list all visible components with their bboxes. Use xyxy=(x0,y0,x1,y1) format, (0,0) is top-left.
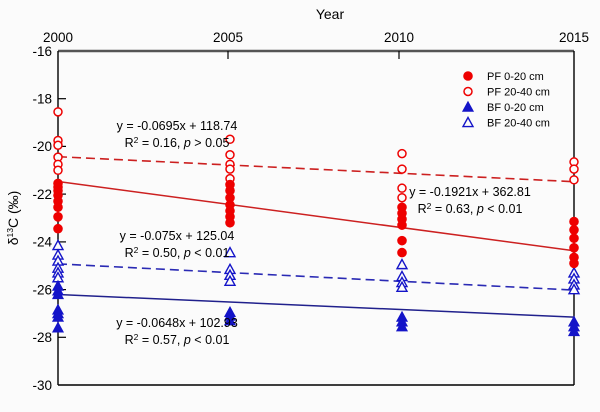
ytick-label-18: -18 xyxy=(32,92,52,107)
data-point xyxy=(570,176,578,184)
data-point xyxy=(398,165,406,173)
data-point xyxy=(54,224,63,233)
xtick-label-2005: 2005 xyxy=(213,30,243,45)
legend-marker-1 xyxy=(464,88,472,96)
data-point xyxy=(570,259,579,268)
data-point xyxy=(226,165,234,173)
svg-text:R2 = 0.16, p > 0.05: R2 = 0.16, p > 0.05 xyxy=(125,135,230,150)
eq2-val: = 0.63, xyxy=(431,202,477,216)
svg-text:y = -0.075x + 125.04: y = -0.075x + 125.04 xyxy=(120,229,235,243)
svg-text:R2 = 0.57, p < 0.01: R2 = 0.57, p < 0.01 xyxy=(125,332,230,347)
eq3-ptail: < 0.01 xyxy=(191,246,230,260)
legend-label-1: PF 20-40 cm xyxy=(487,87,550,99)
svg-text:R2 = 0.50, p < 0.01: R2 = 0.50, p < 0.01 xyxy=(125,245,230,260)
eq4-p: p xyxy=(183,333,191,347)
y-title-delta: δ xyxy=(5,237,21,245)
data-point xyxy=(398,248,407,257)
data-point xyxy=(398,150,406,158)
svg-text:R2 = 0.63, p < 0.01: R2 = 0.63, p < 0.01 xyxy=(418,201,523,216)
legend-label-3: BF 20-40 cm xyxy=(487,118,550,130)
eq3-r: R xyxy=(125,246,134,260)
y-title-c: C (‰) xyxy=(5,191,21,228)
data-point xyxy=(54,203,63,212)
svg-text:y = -0.0695x + 118.74: y = -0.0695x + 118.74 xyxy=(117,119,238,133)
x-axis-title: Year xyxy=(316,6,345,22)
data-point xyxy=(570,244,579,253)
ytick-label-16: -16 xyxy=(32,44,52,59)
ytick-label-28: -28 xyxy=(32,330,52,345)
ytick-label-22: -22 xyxy=(32,187,52,202)
data-point xyxy=(54,213,63,222)
eq4-val: = 0.57, xyxy=(138,333,184,347)
eq3-val: = 0.50, xyxy=(138,246,184,260)
xtick-label-2000: 2000 xyxy=(43,30,73,45)
ytick-label-20: -20 xyxy=(32,139,52,154)
ytick-label-24: -24 xyxy=(32,235,52,250)
legend-label-2: BF 0-20 cm xyxy=(487,102,544,114)
legend-label-0: PF 0-20 cm xyxy=(487,71,544,83)
eq4-r: R xyxy=(125,333,134,347)
chart-figure: 2000 2005 2010 2015 -16 -18 -20 -22 -24 … xyxy=(0,0,600,412)
eq4-line1: y = -0.0648x + 102.93 xyxy=(116,316,238,330)
eq4-ptail: < 0.01 xyxy=(191,333,230,347)
xtick-label-2015: 2015 xyxy=(559,30,589,45)
eq2-ptail: < 0.01 xyxy=(484,202,523,216)
data-point xyxy=(398,236,407,245)
eq1-ptail: > 0.05 xyxy=(191,136,230,150)
data-point xyxy=(226,218,235,227)
eq2-line1: y = -0.1921x + 362.81 xyxy=(409,185,531,199)
eq3-p: p xyxy=(183,246,191,260)
eq1-val: = 0.16, xyxy=(138,136,184,150)
svg-text:y = -0.1921x + 362.81: y = -0.1921x + 362.81 xyxy=(409,185,531,199)
ytick-label-30: -30 xyxy=(32,378,52,393)
data-point xyxy=(570,217,579,226)
ytick-label-26: -26 xyxy=(32,282,52,297)
scatter-plot-svg: 2000 2005 2010 2015 -16 -18 -20 -22 -24 … xyxy=(0,0,600,412)
data-point xyxy=(570,165,578,173)
eq1-r: R xyxy=(125,136,134,150)
eq2-r: R xyxy=(418,202,427,216)
eq2-p: p xyxy=(476,202,484,216)
data-point xyxy=(398,221,407,230)
data-point xyxy=(54,166,62,174)
data-point xyxy=(570,226,579,235)
eq3-line1: y = -0.075x + 125.04 xyxy=(120,229,235,243)
data-point xyxy=(54,141,62,149)
data-point xyxy=(398,194,406,202)
eq1-line1: y = -0.0695x + 118.74 xyxy=(117,119,238,133)
data-point xyxy=(226,151,234,159)
eq1-p: p xyxy=(183,136,191,150)
data-point xyxy=(570,234,579,243)
y-title-superscript: 13 xyxy=(5,228,15,238)
svg-text:y = -0.0648x + 102.93: y = -0.0648x + 102.93 xyxy=(116,316,238,330)
data-point xyxy=(398,184,406,192)
data-point xyxy=(54,108,62,116)
legend-marker-0 xyxy=(464,72,473,81)
xtick-label-2010: 2010 xyxy=(384,30,414,45)
